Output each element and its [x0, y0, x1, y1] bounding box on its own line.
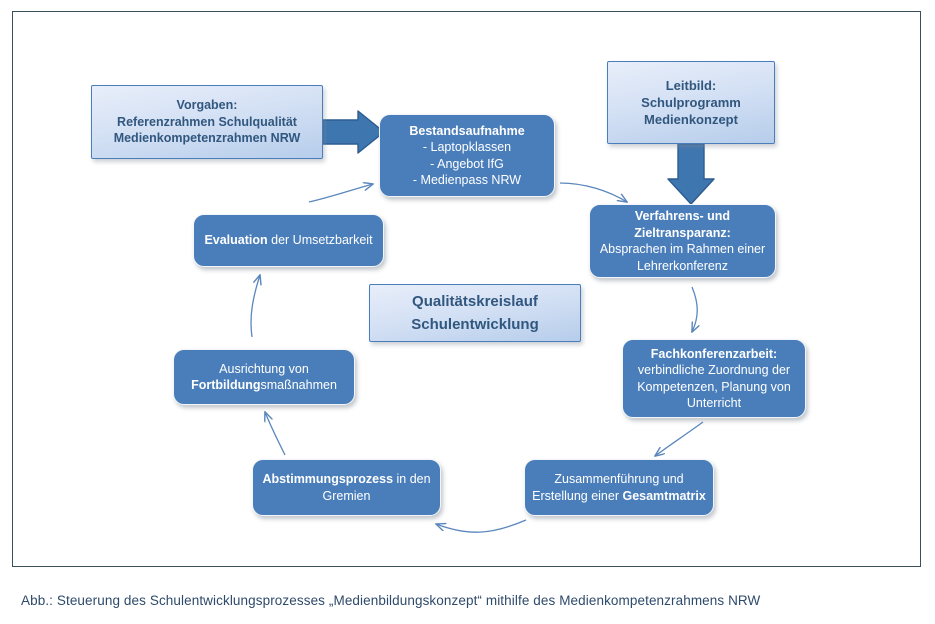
node-evaluation-line1: Evaluation der Umsetzbarkeit	[204, 232, 372, 249]
node-abstimmung-line1-regular: in den	[393, 472, 431, 486]
connector-abstimmung-to-fortbildung	[265, 412, 285, 455]
node-bestandsaufnahme[interactable]: Bestandsaufnahme - Laptopklassen - Angeb…	[379, 114, 555, 197]
connector-fortbildung-to-evaluation	[251, 275, 260, 337]
connector-verfahren-to-fachkonferenz	[692, 287, 697, 332]
node-vorgaben-line1: Vorgaben:	[177, 97, 238, 114]
node-fortbildungsmassnahmen[interactable]: Ausrichtung von Fortbildungsmaßnahmen	[173, 349, 355, 405]
node-evaluation[interactable]: Evaluation der Umsetzbarkeit	[193, 214, 384, 267]
node-bestandsaufnahme-item3: - Medienpass NRW	[413, 172, 521, 189]
node-gesamtmatrix-line2: Erstellung einer Gesamtmatrix	[532, 488, 706, 505]
node-center-line2: Schulentwicklung	[411, 313, 539, 336]
node-fachkonferenz-body-line3: Unterricht	[687, 395, 741, 412]
node-verfahren-body-line1: Absprachen im Rahmen einer	[600, 241, 765, 258]
node-abstimmung-line2: Gremien	[323, 488, 371, 505]
node-fachkonferenz-body-line1: verbindliche Zuordnung der	[638, 362, 790, 379]
node-fachkonferenzarbeit[interactable]: Fachkonferenzarbeit: verbindliche Zuordn…	[622, 339, 806, 418]
connector-vorgaben-to-bestandsaufnahme	[323, 111, 384, 153]
connector-gesamtmatrix-to-abstimmung	[436, 520, 526, 532]
node-evaluation-line1-regular: der Umsetzbarkeit	[268, 233, 373, 247]
node-gesamtmatrix-line2-bold: Gesamtmatrix	[622, 489, 705, 503]
node-vorgaben-line3: Medienkompetenzrahmen NRW	[114, 130, 301, 147]
connector-bestandsaufnahme-to-verfahren	[560, 183, 627, 202]
diagram-frame: Vorgaben: Referenzrahmen Schulqualität M…	[12, 11, 921, 567]
figure-root: Vorgaben: Referenzrahmen Schulqualität M…	[0, 0, 935, 624]
node-leitbild-line2: Schulprogramm	[641, 94, 741, 111]
node-fortbildung-line2-regular: smaßnahmen	[260, 378, 336, 392]
node-bestandsaufnahme-item2: - Angebot IfG	[430, 156, 504, 173]
node-bestandsaufnahme-title: Bestandsaufnahme	[409, 123, 524, 140]
node-gesamtmatrix[interactable]: Zusammenführung und Erstellung einer Ges…	[524, 459, 714, 516]
node-leitbild[interactable]: Leitbild: Schulprogramm Medienkonzept	[607, 61, 775, 144]
node-leitbild-line1: Leitbild:	[666, 77, 717, 94]
connector-evaluation-to-bestandsaufnahme	[309, 184, 373, 202]
node-qualitaetskreislauf[interactable]: Qualitätskreislauf Schulentwicklung	[369, 284, 581, 342]
node-vorgaben[interactable]: Vorgaben: Referenzrahmen Schulqualität M…	[91, 85, 323, 159]
node-vorgaben-line2: Referenzrahmen Schulqualität	[117, 114, 297, 131]
connector-fachkonferenz-to-gesamtmatrix	[655, 422, 703, 456]
node-gesamtmatrix-line2-regular: Erstellung einer	[532, 489, 622, 503]
figure-caption: Abb.: Steuerung des Schulentwicklungspro…	[21, 593, 916, 608]
node-verfahren-title-line2: Zieltransparanz:	[634, 225, 731, 242]
node-center-line1: Qualitätskreislauf	[412, 290, 538, 313]
node-leitbild-line3: Medienkonzept	[644, 111, 738, 128]
node-fortbildung-line2-bold: Fortbildung	[191, 378, 260, 392]
node-abstimmung-line1: Abstimmungsprozess in den	[262, 471, 430, 488]
node-abstimmungsprozess[interactable]: Abstimmungsprozess in den Gremien	[252, 459, 441, 516]
connector-leitbild-to-verfahren	[668, 144, 714, 204]
node-verfahren-body-line2: Lehrerkonferenz	[637, 258, 728, 275]
node-verfahren-title-line1: Verfahrens- und	[635, 208, 730, 225]
node-verfahrens-und-zieltransparanz[interactable]: Verfahrens- und Zieltransparanz: Absprac…	[589, 204, 776, 278]
node-gesamtmatrix-line1: Zusammenführung und	[554, 471, 683, 488]
node-fachkonferenz-body-line2: Kompetenzen, Planung von	[637, 379, 791, 396]
node-fortbildung-line2: Fortbildungsmaßnahmen	[191, 377, 337, 394]
node-evaluation-line1-bold: Evaluation	[204, 233, 267, 247]
node-fortbildung-line1: Ausrichtung von	[219, 361, 309, 378]
node-abstimmung-line1-bold: Abstimmungsprozess	[262, 472, 393, 486]
node-fachkonferenz-title: Fachkonferenzarbeit:	[651, 346, 777, 363]
node-bestandsaufnahme-item1: - Laptopklassen	[423, 139, 511, 156]
